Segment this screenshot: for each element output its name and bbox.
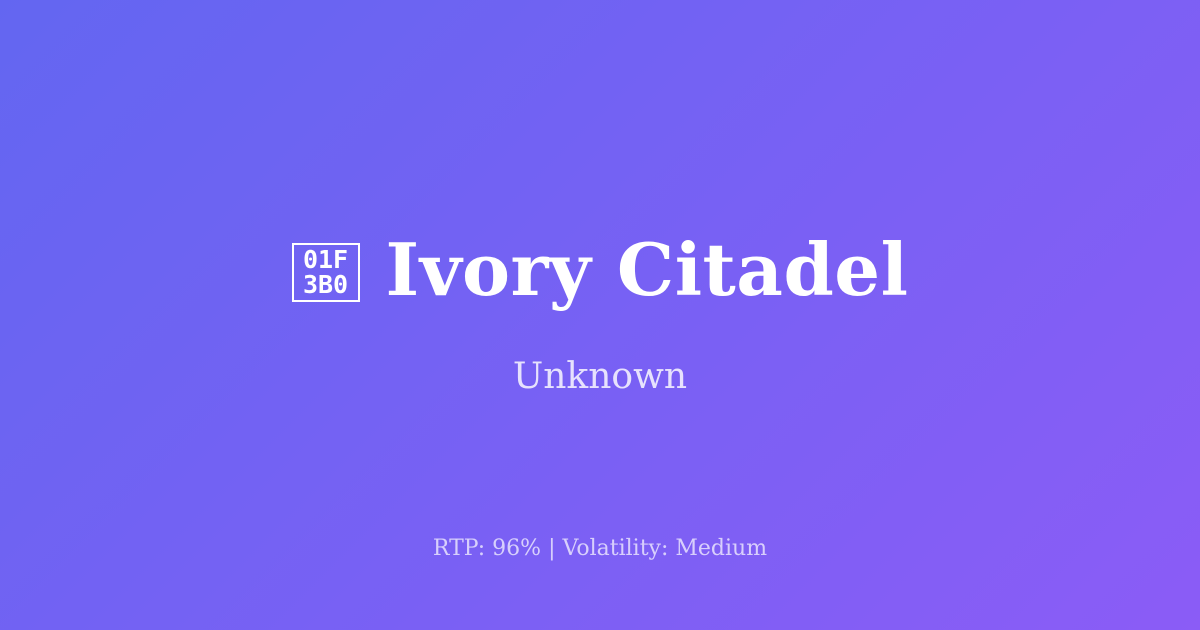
title-row: 01F 3B0 Ivory Citadel xyxy=(292,232,909,308)
slot-machine-icon: 01F 3B0 xyxy=(292,243,360,302)
og-share-card: 01F 3B0 Ivory Citadel Unknown RTP: 96% |… xyxy=(0,0,1200,630)
provider-label: Unknown xyxy=(513,355,687,398)
page-title: Ivory Citadel xyxy=(386,232,909,308)
tofu-codepoint-top: 01F xyxy=(303,247,348,272)
game-stats-line: RTP: 96% | Volatility: Medium xyxy=(0,536,1200,562)
tofu-codepoint-bottom: 3B0 xyxy=(303,272,348,297)
